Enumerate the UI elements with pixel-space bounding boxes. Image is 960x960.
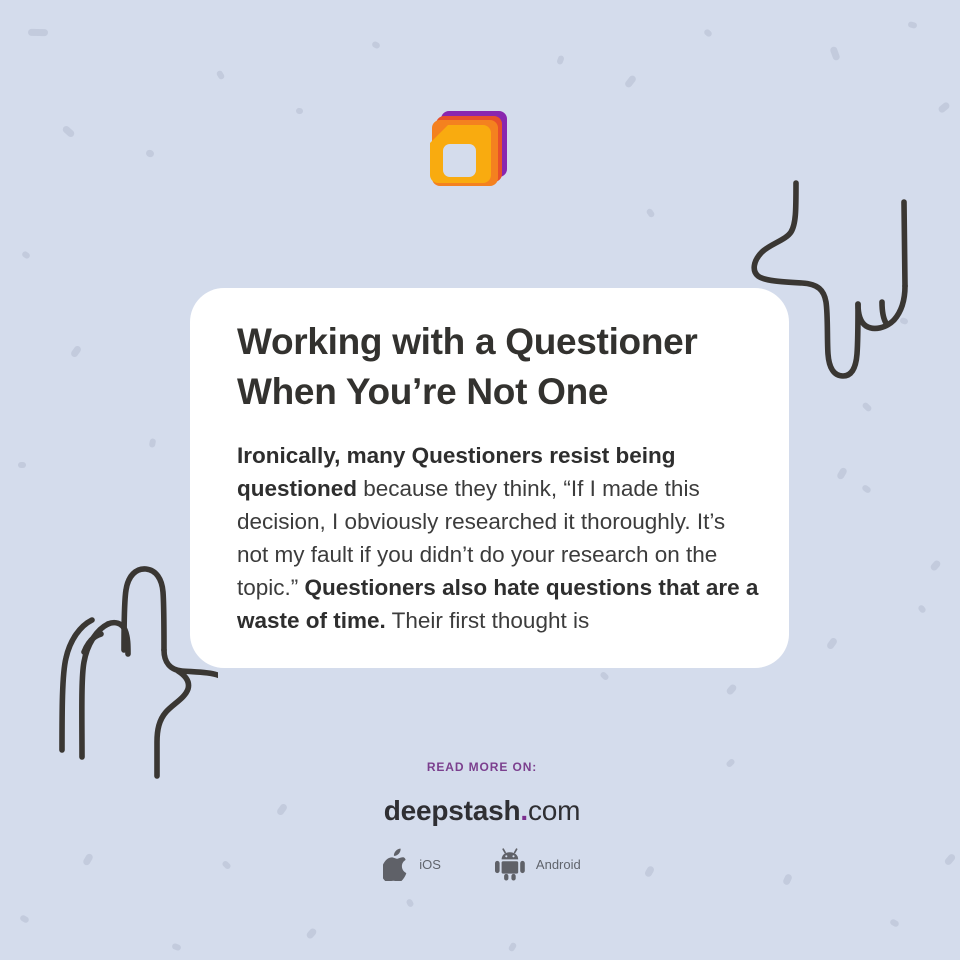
- background-speck: [18, 462, 26, 468]
- background-speck: [61, 125, 75, 139]
- background-speck: [556, 55, 565, 66]
- background-speck: [405, 898, 414, 908]
- android-icon: [493, 848, 527, 881]
- background-speck: [28, 29, 48, 36]
- background-speck: [889, 918, 900, 928]
- background-speck: [70, 345, 83, 359]
- card-inner: Working with a Questioner When You’re No…: [237, 317, 759, 668]
- page-title: Working with a Questioner When You’re No…: [237, 317, 757, 417]
- background-speck: [305, 927, 317, 940]
- background-speck: [508, 942, 518, 953]
- background-speck: [19, 914, 30, 924]
- background-speck: [371, 40, 381, 49]
- wordmark-name: deepstash: [384, 795, 521, 826]
- background-speck: [599, 671, 610, 682]
- background-speck: [216, 70, 226, 81]
- card-body-text: Ironically, many Questioners resist bein…: [237, 439, 759, 637]
- app-store-badges: iOS Android: [0, 848, 960, 881]
- background-speck: [937, 101, 951, 114]
- pointing-hand-up-icon: [18, 552, 218, 790]
- deepstash-wordmark[interactable]: deepstash.com: [0, 795, 960, 827]
- background-speck: [145, 149, 155, 158]
- background-speck: [907, 21, 917, 29]
- background-speck: [861, 484, 872, 494]
- apple-icon: [383, 848, 410, 881]
- background-speck: [171, 943, 182, 952]
- background-speck: [826, 637, 839, 651]
- ios-label: iOS: [419, 857, 441, 872]
- wordmark-tld: com: [528, 795, 580, 826]
- background-speck: [917, 604, 927, 614]
- footer: READ MORE ON: deepstash.com iOS: [0, 760, 960, 881]
- background-speck: [836, 467, 848, 481]
- wordmark-dot: .: [520, 795, 528, 826]
- background-speck: [829, 46, 840, 62]
- background-speck: [929, 559, 941, 572]
- background-speck: [296, 107, 304, 114]
- poster-canvas: Working with a Questioner When You’re No…: [0, 0, 960, 960]
- body-segment-3: Their first thought is: [386, 608, 589, 633]
- deepstash-logo: [427, 103, 519, 197]
- ios-store-badge[interactable]: iOS: [383, 848, 441, 881]
- android-store-badge[interactable]: Android: [493, 848, 581, 881]
- background-speck: [703, 28, 713, 38]
- background-speck: [21, 250, 31, 260]
- background-speck: [624, 74, 638, 89]
- background-speck: [149, 438, 156, 448]
- background-speck: [861, 401, 872, 412]
- content-card: Working with a Questioner When You’re No…: [190, 288, 789, 668]
- read-more-label: READ MORE ON:: [0, 760, 960, 774]
- background-speck: [725, 683, 737, 696]
- android-label: Android: [536, 857, 581, 872]
- background-speck: [645, 208, 655, 219]
